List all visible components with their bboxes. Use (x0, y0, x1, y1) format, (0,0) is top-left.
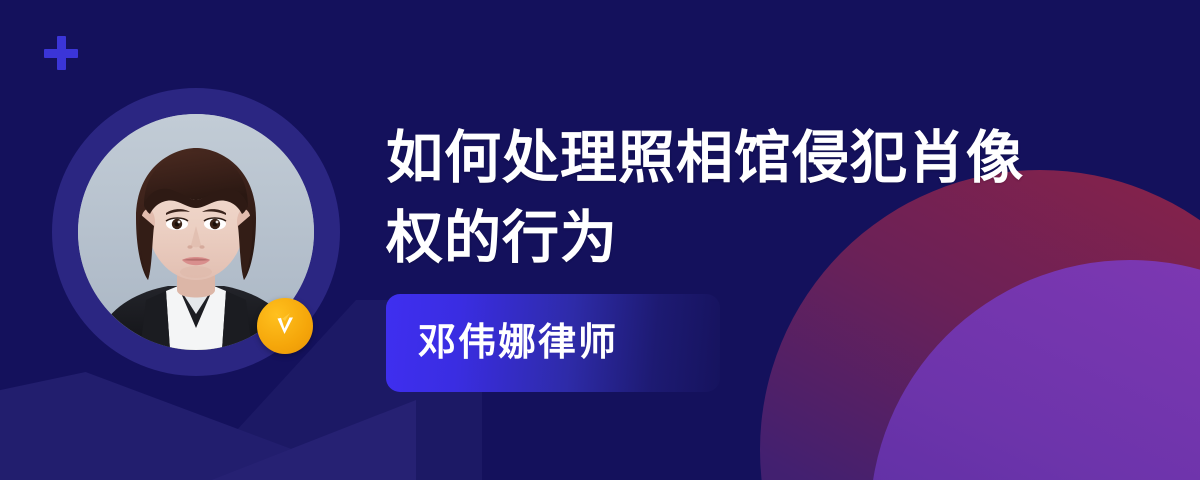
page-title: 如何处理照相馆侵犯肖像权的行为 (386, 118, 1046, 278)
article-banner: 如何处理照相馆侵犯肖像权的行为 邓伟娜律师 (0, 0, 1200, 480)
plus-icon-vertical-bar (57, 36, 66, 70)
wedge-shape-lower-right (186, 400, 416, 480)
plus-icon (44, 36, 78, 70)
avatar[interactable] (52, 88, 340, 376)
verified-v-icon (268, 309, 302, 343)
content-block: 如何处理照相馆侵犯肖像权的行为 邓伟娜律师 (386, 118, 1086, 392)
author-button[interactable]: 邓伟娜律师 (386, 294, 720, 392)
verified-badge (257, 298, 313, 354)
